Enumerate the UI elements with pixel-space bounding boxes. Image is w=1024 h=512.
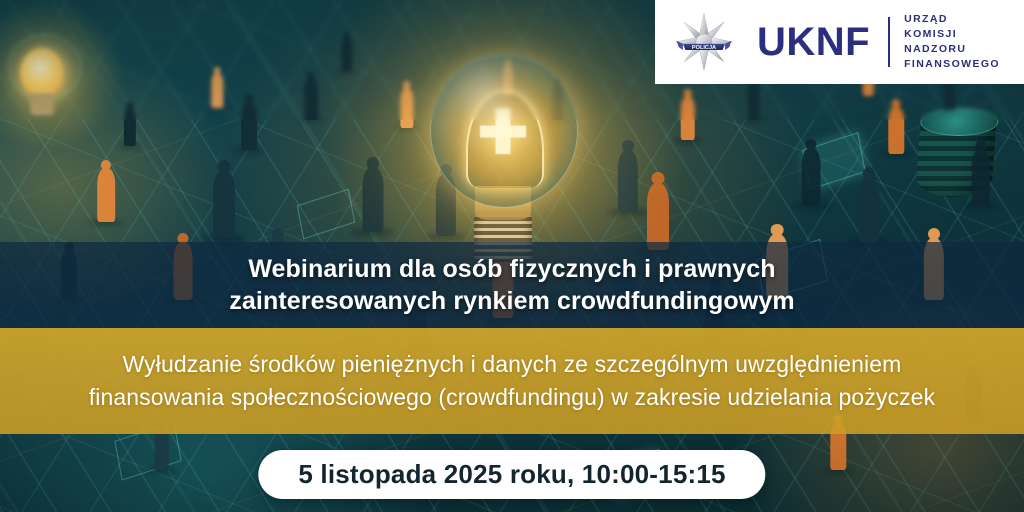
date-badge: 5 listopada 2025 roku, 10:00-15:15 — [258, 450, 765, 499]
subtitle-line-1: Wyłudzanie środków pieniężnych i danych … — [123, 348, 902, 381]
page-title-line-2: zainteresowanych rynkiem crowdfundingowy… — [229, 285, 794, 318]
uknf-name-line: KOMISJI — [904, 27, 1000, 42]
uknf-name-line: FINANSOWEGO — [904, 57, 1000, 72]
police-star-svg: POLICJA — [673, 11, 735, 73]
date-badge-text: 5 listopada 2025 roku, 10:00-15:15 — [298, 460, 725, 489]
page-title-line-1: Webinarium dla osób fizycznych i prawnyc… — [248, 253, 775, 286]
webinar-poster: POLICJA UKNF URZĄD KOMISJI NADZORU FINAN… — [0, 0, 1024, 512]
logo-divider — [888, 17, 890, 67]
logo-bar: POLICJA UKNF URZĄD KOMISJI NADZORU FINAN… — [655, 0, 1024, 84]
title-band: Webinarium dla osób fizycznych i prawnyc… — [0, 242, 1024, 328]
uknf-full-name: URZĄD KOMISJI NADZORU FINANSOWEGO — [904, 12, 1000, 73]
subtitle-line-2: finansowania społecznościowego (crowdfun… — [89, 381, 935, 414]
uknf-name-line: URZĄD — [904, 12, 1000, 27]
uknf-name-line: NADZORU — [904, 42, 1000, 57]
subtitle-band: Wyłudzanie środków pieniężnych i danych … — [0, 328, 1024, 434]
uknf-wordmark: UKNF — [757, 22, 870, 62]
police-star-icon: POLICJA — [673, 11, 735, 73]
police-badge-label: POLICJA — [692, 45, 716, 51]
